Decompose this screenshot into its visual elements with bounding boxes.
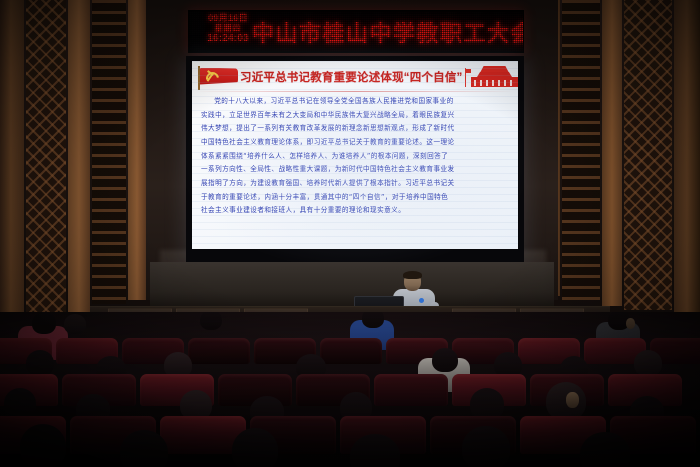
hammer-sickle-icon	[206, 72, 217, 82]
seat	[320, 338, 382, 364]
flag-pole	[198, 66, 200, 90]
audience-head	[64, 314, 86, 334]
audience-area	[0, 312, 700, 467]
audience-head	[26, 350, 54, 376]
slide-line: 社会主义事业建设者和接班人，具有十分重要的理论和现实意义。	[201, 204, 509, 217]
auditorium-photo: 09月16日 星期四 16:24:03 中山市桂山中学教职工大会 习近平总书记教…	[0, 0, 700, 467]
tiananmen-roof	[479, 66, 511, 72]
slide-title: 习近平总书记教育重要论述体现“四个自信”	[240, 69, 463, 85]
party-flag-icon	[198, 66, 240, 88]
tiananmen-flagpole-left	[465, 68, 466, 87]
wood-column-left-3	[128, 0, 146, 300]
audience-head	[462, 426, 510, 467]
audience-face	[626, 318, 635, 329]
slide-line: 于教育的重要论述，内涵十分丰富，贯通其中的“四个自信”，对于培养中国特色	[201, 191, 509, 204]
slide-line: 中国特色社会主义教育理论体系，即习近平总书记关于教育的重要论述。这一理论	[201, 136, 509, 149]
audience-head	[362, 312, 384, 328]
slide-line: 伟大梦想，提出了一系列有关教育改革发展的新理念新思想新观点，形成了新时代	[201, 122, 509, 135]
audience-face	[566, 392, 579, 408]
wood-column-right-1	[674, 0, 700, 320]
audience-head	[120, 430, 168, 467]
wood-column-left-1	[0, 0, 24, 330]
slide-header: 习近平总书记教育重要论述体现“四个自信”	[192, 61, 518, 92]
projection-screen-frame: 习近平总书记教育重要论述体现“四个自信” 党的十八大以来，习近平总书记在领导全党…	[186, 56, 524, 262]
tiananmen-icon	[463, 64, 519, 89]
presenter-hair	[403, 271, 422, 279]
seat	[188, 338, 250, 364]
audience-head	[200, 312, 222, 330]
wood-column-left-2	[68, 0, 90, 312]
slat-wall-panel-right	[562, 0, 600, 300]
lattice-wall-panel-left	[26, 0, 66, 316]
lattice-wall-panel-right	[624, 0, 672, 310]
audience-head	[432, 348, 458, 372]
seat	[374, 374, 448, 406]
audience-head	[232, 428, 278, 467]
slide-line: 展指明了方向，为建设教育强国、培养时代新人提供了根本指针。习近平总书记关	[201, 177, 509, 190]
led-title: 中山市桂山中学教职工大会	[267, 11, 519, 52]
projection-screen: 习近平总书记教育重要论述体现“四个自信” 党的十八大以来，习近平总书记在领导全党…	[192, 61, 518, 249]
led-banner: 09月16日 星期四 16:24:03 中山市桂山中学教职工大会	[188, 10, 524, 53]
audience-head	[32, 312, 56, 334]
slide-body: 党的十八大以来，习近平总书记在领导全党全国各族人民推进党和国家事业的 实践中，立…	[192, 92, 518, 217]
audience-head	[4, 388, 36, 418]
audience-head	[634, 350, 662, 376]
slat-wall-panel-left	[92, 0, 126, 304]
slide-line: 党的十八大以来，习近平总书记在领导全党全国各族人民推进党和国家事业的	[201, 95, 509, 108]
slide-line: 体系紧紧围绕“培养什么人、怎样培养人、为谁培养人”的根本问题，深刻回答了	[201, 150, 509, 163]
slide-header-rule	[196, 91, 514, 92]
slide-line: 一系列方向性、全局性、战略性重大课题，为新时代中国特色社会主义教育事业发	[201, 163, 509, 176]
wood-column-right-2	[602, 0, 622, 306]
slide-line: 实践中，立足世界百年未有之大变局和中华民族伟大复兴战略全局，着眼民族复兴	[201, 109, 509, 122]
audience-head	[20, 424, 66, 467]
presenter-badge	[419, 298, 424, 303]
tiananmen-wall	[471, 77, 519, 87]
